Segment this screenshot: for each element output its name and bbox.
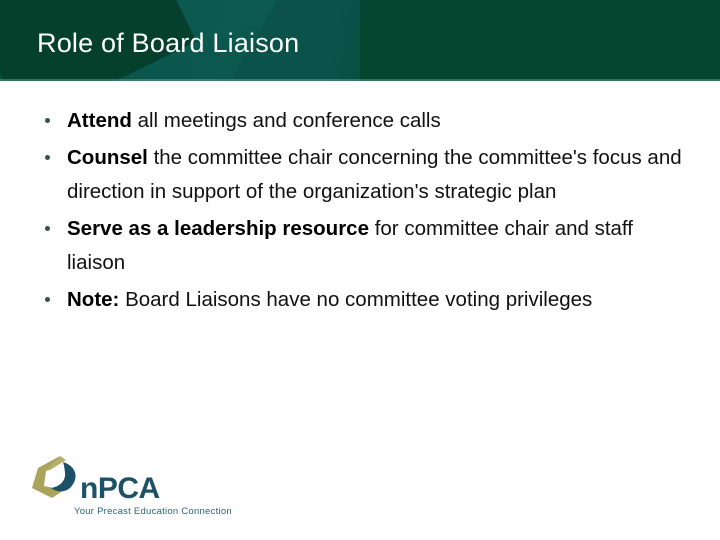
npca-diamond-swoosh-icon bbox=[30, 454, 86, 504]
bullet-rest: all meetings and conference calls bbox=[132, 109, 441, 132]
slide-root: Role of Board Liaison Attend all meeting… bbox=[0, 0, 720, 540]
bullet-lead: Attend bbox=[67, 109, 132, 132]
list-item: Serve as a leadership resource for commi… bbox=[40, 212, 690, 280]
bullet-lead: Serve as a leadership resource bbox=[67, 217, 369, 240]
list-item: Counsel the committee chair concerning t… bbox=[40, 141, 690, 209]
bullet-rest: Board Liaisons have no committee voting … bbox=[119, 288, 592, 311]
npca-logo: nPCA Your Precast Education Connection bbox=[30, 452, 245, 527]
list-item: Note: Board Liaisons have no committee v… bbox=[40, 283, 690, 317]
bullet-dot-icon bbox=[45, 297, 50, 302]
bullet-list: Attend all meetings and conference calls… bbox=[40, 104, 690, 320]
bullet-dot-icon bbox=[45, 226, 50, 231]
npca-wordmark: nPCA bbox=[80, 474, 160, 504]
page-title: Role of Board Liaison bbox=[37, 28, 299, 59]
list-item: Attend all meetings and conference calls bbox=[40, 104, 690, 138]
bullet-lead: Note: bbox=[67, 288, 119, 311]
bullet-lead: Counsel bbox=[67, 146, 148, 169]
bullet-dot-icon bbox=[45, 155, 50, 160]
npca-tagline: Your Precast Education Connection bbox=[74, 506, 232, 517]
bullet-dot-icon bbox=[45, 118, 50, 123]
bullet-rest: the committee chair concerning the commi… bbox=[67, 146, 682, 203]
